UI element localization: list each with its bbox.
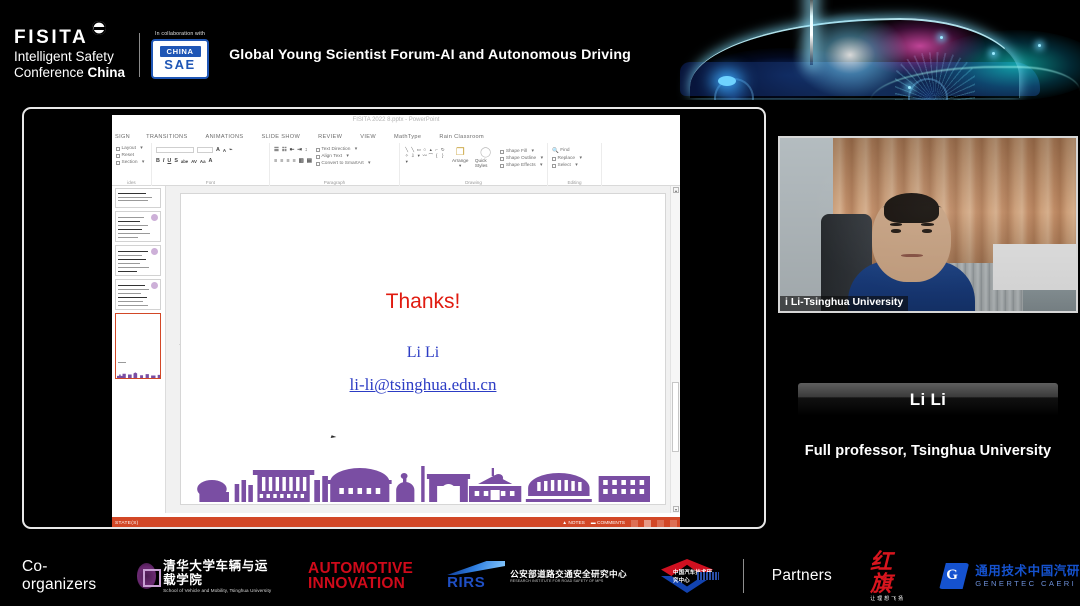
ribbon-group-drawing[interactable]: ╲╲▭○▴ ⌐↻✧⇩▾ 〰⌒{}▾ ❐ Arrange ▾ ◯ Quick St… — [400, 143, 548, 186]
ribbon-tab-design[interactable]: SIGN — [115, 134, 130, 140]
footer-divider — [743, 559, 744, 593]
select-label: Select — [558, 162, 571, 169]
campus-skyline-illustration — [196, 456, 651, 502]
shape-arc-icon[interactable]: 〰 — [422, 153, 428, 159]
replace-caret: ▾ — [579, 155, 581, 162]
shape-outline-caret: ▾ — [541, 155, 543, 162]
ribbon-group-paragraph[interactable]: ☰ ☷ ⇤ ⇥ ↕ ≡ ≡ ≡ ≡ ▥ ▤ — [270, 143, 400, 186]
collaboration-note: In collaboration with — [151, 31, 209, 37]
select-icon — [552, 164, 556, 168]
ribbon-tab-transitions[interactable]: TRANSITIONS — [146, 134, 187, 140]
status-right-cluster[interactable]: ▲ NOTES ▬ COMMENTS — [562, 520, 677, 527]
notes-label: NOTES — [568, 521, 585, 526]
shape-more-icon[interactable]: ▴ — [428, 147, 434, 153]
slides-group-name: ides — [112, 180, 151, 185]
smartart-icon — [316, 162, 320, 166]
logo-hongqi: 红旗 让理想飞扬 — [870, 551, 905, 602]
speaker-role: Full professor, Tsinghua University — [778, 443, 1078, 459]
ribbon-group-slides[interactable]: Layout ▾ Reset Section ▾ ides — [112, 143, 152, 186]
document-title: FISITA 2022 8.pptx - PowerPoint — [353, 117, 440, 123]
fisita-tagline-conference: Conference — [14, 65, 88, 80]
shape-effects-icon — [500, 164, 504, 168]
slide-thumbnail[interactable] — [115, 245, 161, 276]
text-direction-label: Text Direction — [321, 146, 350, 153]
page-header: FISITA Intelligent Safety Conference Chi… — [0, 0, 1080, 100]
font-top-row[interactable]: A A ⌁ — [156, 147, 265, 153]
genertec-mark-letter: G — [946, 567, 958, 584]
section-button[interactable]: Section ▾ — [116, 159, 147, 166]
automotive-innovation-line1: AUTOMOTIVE — [308, 561, 413, 576]
comments-button[interactable]: ▬ COMMENTS — [591, 521, 625, 526]
rirs-mark: RIRS — [447, 561, 505, 591]
font-family-input[interactable] — [156, 147, 194, 153]
shape-scroll-icon[interactable]: ▾ — [416, 153, 422, 159]
shape-outline-button[interactable]: Shape Outline ▾ — [500, 155, 543, 162]
shape-line-icon[interactable]: ╲ — [404, 147, 410, 153]
banner-spark-dot — [1038, 44, 1041, 47]
shape-star-icon[interactable]: ✧ — [404, 153, 410, 159]
fisita-tagline-line1: Intelligent Safety — [14, 49, 125, 65]
convert-smartart-label: Convert to SmartArt — [321, 160, 363, 167]
mouse-cursor-slide — [331, 435, 337, 440]
co-organizers-label: Co-organizers — [22, 558, 99, 594]
align-text-icon — [316, 155, 320, 159]
rirs-text: 公安部道路交通安全研究中心 RESEARCH INSTITUTE FOR ROA… — [510, 569, 627, 584]
banner-spark-dot — [908, 86, 911, 89]
ribbon-tab-review[interactable]: REVIEW — [318, 134, 342, 140]
shape-effects-label: Shape Effects — [506, 162, 536, 169]
slide-seal-icon — [151, 282, 158, 289]
ribbon-tab-animations[interactable]: ANIMATIONS — [206, 134, 244, 140]
align-text-caret: ▾ — [346, 153, 348, 160]
numbering-icon[interactable]: ☷ — [282, 147, 287, 153]
powerpoint-status-bar[interactable]: STATE(S) ▲ NOTES ▬ COMMENTS — [112, 517, 680, 529]
cars-name-block — [697, 572, 719, 580]
normal-view-button[interactable] — [631, 520, 638, 527]
automotive-innovation-line2: INNOVATION — [308, 576, 405, 591]
slide-sorter-view-button[interactable] — [644, 520, 651, 527]
rirs-name-en: RESEARCH INSTITUTE FOR ROAD SAFETY OF MP… — [510, 579, 627, 583]
tsinghua-name-cn: 清华大学车辆与运载学院 — [163, 559, 272, 588]
shape-fill-label: Shape Fill — [506, 148, 527, 155]
arrange-icon: ❐ — [456, 147, 465, 158]
shape-arrow-icon[interactable]: ╲ — [410, 147, 416, 153]
status-state-text: STATE(S) — [115, 521, 139, 526]
shape-expand-icon[interactable]: ▾ — [404, 159, 410, 165]
rirs-swoosh-icon — [447, 561, 505, 575]
page-footer: Co-organizers 清华大学车辆与运载学院 School of Vehi… — [0, 546, 1080, 606]
paragraph-group-name: Paragraph — [270, 180, 399, 185]
ribbon-tab-mathtype[interactable]: MathType — [394, 134, 421, 140]
logo-rirs: RIRS 公安部道路交通安全研究中心 RESEARCH INSTITUTE FO… — [447, 561, 627, 591]
section-caret: ▾ — [142, 159, 144, 166]
select-button[interactable]: Select ▾ — [552, 162, 597, 169]
notes-button[interactable]: ▲ NOTES — [562, 521, 585, 526]
find-icon: 🔍 — [552, 147, 559, 155]
slide-vertical-scrollbar[interactable]: ▴ ▾ — [670, 186, 680, 513]
shape-outline-icon — [500, 157, 504, 161]
speaker-name: Li Li — [910, 390, 946, 410]
speaker-video-panel[interactable]: i Li-Tsinghua University — [778, 136, 1078, 313]
section-label: Section — [122, 159, 138, 166]
video-participant-label: i Li-Tsinghua University — [780, 296, 908, 311]
layout-button[interactable]: Layout ▾ — [116, 145, 147, 152]
layout-caret: ▾ — [140, 145, 142, 152]
china-sae-bottom-text: SAE — [164, 58, 196, 71]
clear-formatting-icon[interactable]: ⌁ — [229, 147, 232, 153]
tsinghua-seal-icon — [137, 563, 157, 589]
shape-rbrace-icon[interactable]: } — [440, 153, 446, 159]
fisita-tagline-line2: Conference China — [14, 65, 125, 81]
scrollbar-thumb[interactable] — [672, 382, 679, 452]
change-case-button[interactable]: Aa — [200, 159, 206, 164]
section-icon — [116, 161, 120, 165]
neon-car-banner-graphic — [640, 0, 1080, 100]
banner-headlight — [718, 76, 736, 86]
logo-tsinghua: 清华大学车辆与运载学院 School of Vehicle and Mobili… — [137, 559, 273, 593]
slide-thumbnail-panel[interactable] — [112, 186, 166, 513]
slide-thumbnail-selected[interactable] — [115, 313, 161, 379]
decrease-indent-icon[interactable]: ⇤ — [290, 147, 295, 153]
ribbon-tab-rain-classroom[interactable]: Rain Classroom — [439, 134, 484, 140]
current-slide[interactable]: Thanks! Li Li li-li@tsinghua.edu.cn — [180, 193, 666, 505]
layout-icon — [116, 147, 120, 151]
genertec-text: 通用技术中国汽研 GENERTEC CAERI — [975, 564, 1080, 588]
quick-styles-icon: ◯ — [480, 147, 491, 158]
bold-button[interactable]: B — [156, 158, 160, 164]
italic-button[interactable]: I — [163, 158, 165, 164]
slide-thumbnail[interactable] — [115, 279, 161, 310]
speaker-name-plate: Li Li — [798, 383, 1058, 416]
text-direction-icon — [316, 148, 320, 152]
align-left-icon[interactable]: ≡ — [274, 158, 277, 164]
forum-title: Global Young Scientist Forum-AI and Auto… — [229, 47, 631, 63]
align-text-label: Align Text — [321, 153, 342, 160]
character-spacing-button[interactable]: AV — [191, 159, 197, 164]
shadow-button[interactable]: S — [174, 158, 178, 164]
rirs-wordmark: RIRS — [447, 574, 485, 591]
shape-fill-caret: ▾ — [532, 148, 534, 155]
shape-elbow-icon[interactable]: ⌐ — [434, 147, 440, 153]
ribbon-tab-slide-show[interactable]: SLIDE SHOW — [261, 134, 300, 140]
text-columns-icon[interactable]: ▤ — [307, 158, 312, 164]
brand-divider — [139, 33, 140, 77]
reset-icon — [116, 154, 120, 158]
underline-button[interactable]: U — [167, 158, 171, 164]
partners-label: Partners — [772, 567, 832, 585]
editing-group-name: Editing — [548, 180, 601, 185]
replace-label: Replace — [558, 155, 576, 162]
logo-genertec: G 通用技术中国汽研 GENERTEC CAERI — [939, 563, 1080, 589]
fisita-wordmark: FISITA — [14, 28, 125, 47]
paragraph-list-row[interactable]: ☰ ☷ ⇤ ⇥ ↕ — [274, 147, 312, 153]
layout-label: Layout — [122, 145, 136, 152]
arrange-caret: ▾ — [459, 163, 461, 168]
shape-rect-icon[interactable]: ▭ — [416, 147, 422, 153]
line-spacing-icon[interactable]: ↕ — [305, 147, 308, 153]
brand-bar: FISITA Intelligent Safety Conference Chi… — [14, 28, 631, 82]
increase-indent-icon[interactable]: ⇥ — [297, 147, 302, 153]
hongqi-name-cn: 红旗 — [870, 551, 905, 595]
logo-automotive-innovation: AUTOMOTIVE INNOVATION — [308, 561, 413, 591]
rirs-name-cn: 公安部道路交通安全研究中心 — [510, 569, 627, 579]
china-sae-top-text: CHINA — [160, 46, 201, 57]
font-size-input[interactable] — [197, 147, 213, 153]
tsinghua-text: 清华大学车辆与运载学院 School of Vehicle and Mobili… — [163, 559, 272, 593]
replace-button[interactable]: Replace ▾ — [552, 155, 597, 162]
slide-author-name: Li Li — [181, 344, 665, 362]
logo-cars: 中国汽车技术研究中心 — [661, 559, 713, 593]
shared-screen-frame[interactable]: FISITA 2022 8.pptx - PowerPoint SIGN TRA… — [22, 107, 766, 529]
powerpoint-window[interactable]: FISITA 2022 8.pptx - PowerPoint SIGN TRA… — [112, 115, 680, 529]
justify-icon[interactable]: ≡ — [292, 158, 295, 164]
genertec-name-en: GENERTEC CAERI — [975, 579, 1080, 588]
paragraph-align-row[interactable]: ≡ ≡ ≡ ≡ ▥ ▤ — [274, 158, 312, 164]
thumbnail-skyline-icon — [117, 371, 161, 378]
find-button[interactable]: 🔍Find — [552, 147, 597, 155]
ribbon-tab-strip[interactable]: SIGN TRANSITIONS ANIMATIONS SLIDE SHOW R… — [112, 131, 680, 143]
shape-curve-icon[interactable]: ↻ — [440, 147, 446, 153]
comments-label: COMMENTS — [597, 521, 625, 526]
hongqi-tagline: 让理想飞扬 — [870, 597, 905, 602]
shape-outline-label: Shape Outline — [506, 155, 536, 162]
shape-lbrace-icon[interactable]: { — [434, 153, 440, 159]
globe-icon — [92, 21, 106, 35]
shape-wave-icon[interactable]: ⌒ — [428, 153, 434, 159]
banner-spark-dot — [992, 52, 995, 55]
select-caret: ▾ — [575, 162, 577, 169]
replace-icon — [552, 157, 556, 161]
ribbon-group-editing[interactable]: 🔍Find Replace ▾ Select ▾ Editing — [548, 143, 602, 186]
align-text-button[interactable]: Align Text ▾ — [316, 153, 371, 160]
grow-font-icon[interactable]: A — [216, 147, 220, 153]
font-color-button[interactable]: A — [209, 158, 213, 164]
video-scrim — [780, 138, 1076, 311]
ribbon-tab-view[interactable]: VIEW — [360, 134, 376, 140]
arrange-button[interactable]: ❐ Arrange ▾ — [450, 147, 471, 170]
slide-thanks-text: Thanks! — [181, 290, 665, 314]
slide-author-email[interactable]: li-li@tsinghua.edu.cn — [181, 375, 665, 395]
find-label: Find — [560, 147, 569, 154]
align-center-icon[interactable]: ≡ — [280, 158, 283, 164]
shape-fill-button[interactable]: Shape Fill ▾ — [500, 148, 543, 155]
slide-thumbnail[interactable] — [115, 211, 161, 242]
align-right-icon[interactable]: ≡ — [286, 158, 289, 164]
scroll-down-icon[interactable]: ▾ — [673, 506, 679, 512]
smartart-caret: ▾ — [368, 160, 370, 167]
china-sae-logo: In collaboration with CHINA SAE — [151, 31, 209, 79]
shape-effects-caret: ▾ — [540, 162, 542, 169]
text-direction-caret: ▾ — [355, 146, 357, 153]
reset-label: Reset — [122, 152, 135, 159]
scroll-up-icon[interactable]: ▴ — [673, 187, 679, 193]
shape-arrow2-icon[interactable]: ⇩ — [410, 153, 416, 159]
shape-fill-icon — [500, 150, 504, 154]
china-sae-badge: CHINA SAE — [151, 39, 209, 79]
slide-seal-icon — [151, 248, 158, 255]
shape-effects-button[interactable]: Shape Effects ▾ — [500, 162, 543, 169]
text-direction-button[interactable]: Text Direction ▾ — [316, 146, 371, 153]
font-group-name: Font — [152, 180, 269, 185]
ribbon-body[interactable]: Layout ▾ Reset Section ▾ ides A A ⌁ B I … — [112, 143, 680, 186]
genertec-name-cn: 通用技术中国汽研 — [975, 564, 1080, 579]
genertec-mark-icon: G — [939, 563, 969, 589]
tsinghua-name-en: School of Vehicle and Mobility, Tsinghua… — [163, 588, 272, 593]
strikethrough-button[interactable]: abe — [181, 159, 188, 164]
powerpoint-title-bar: FISITA 2022 8.pptx - PowerPoint — [112, 115, 680, 131]
cars-diamond-icon: 中国汽车技术研究中心 — [661, 559, 713, 593]
font-bottom-row[interactable]: B I U S abe AV Aa A — [156, 158, 265, 164]
shape-gallery[interactable]: ╲╲▭○▴ ⌐↻✧⇩▾ 〰⌒{}▾ — [404, 147, 446, 170]
columns-icon[interactable]: ▥ — [299, 158, 304, 164]
slide-canvas-area[interactable]: Thanks! Li Li li-li@tsinghua.edu.cn — [166, 186, 670, 513]
shrink-font-icon[interactable]: A — [223, 148, 226, 153]
reading-view-button[interactable] — [657, 520, 664, 527]
banner-light-beam — [810, 0, 813, 65]
drawing-group-name: Drawing — [400, 180, 547, 185]
ribbon-group-font[interactable]: A A ⌁ B I U S abe AV Aa A Font — [152, 143, 270, 186]
banner-spark-dot — [940, 36, 943, 39]
video-feed: i Li-Tsinghua University — [780, 138, 1076, 311]
quick-styles-button[interactable]: ◯ Quick Styles — [475, 147, 496, 170]
shape-oval-icon[interactable]: ○ — [422, 147, 428, 153]
fisita-logo: FISITA Intelligent Safety Conference Chi… — [14, 28, 139, 82]
convert-smartart-button[interactable]: Convert to SmartArt ▾ — [316, 160, 371, 167]
bullets-icon[interactable]: ☰ — [274, 147, 279, 153]
quick-styles-label: Quick Styles — [475, 158, 496, 169]
banner-glow-center — [790, 10, 910, 100]
slide-thumbnail[interactable] — [115, 188, 161, 208]
fisita-tagline-china: China — [88, 65, 126, 80]
slide-seal-icon — [151, 214, 158, 221]
slide-show-view-button[interactable] — [670, 520, 677, 527]
reset-button[interactable]: Reset — [116, 152, 147, 159]
